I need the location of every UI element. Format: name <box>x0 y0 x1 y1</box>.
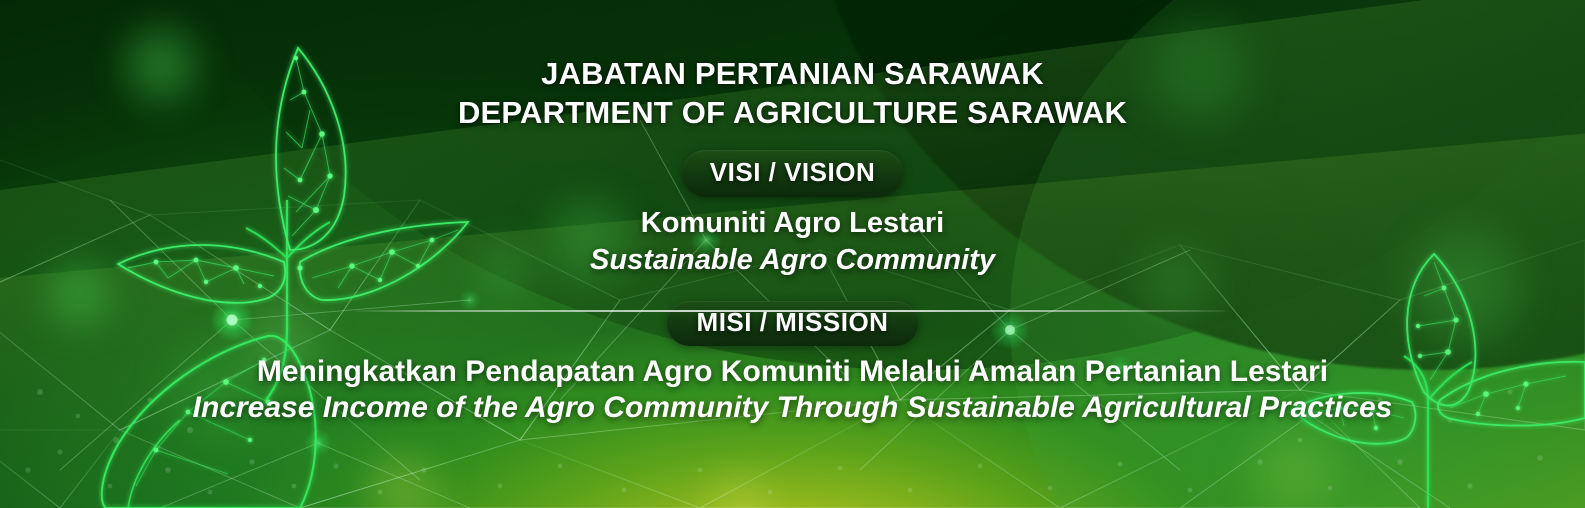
banner-title: JABATAN PERTANIAN SARAWAK DEPARTMENT OF … <box>458 54 1127 132</box>
mission-text-malay: Meningkatkan Pendapatan Agro Komuniti Me… <box>193 355 1393 389</box>
vision-mission-banner: JABATAN PERTANIAN SARAWAK DEPARTMENT OF … <box>0 0 1585 508</box>
vision-section: VISI / VISION Komuniti Agro Lestari Sust… <box>590 150 995 277</box>
vision-text-malay: Komuniti Agro Lestari <box>590 207 995 240</box>
mission-badge: MISI / MISSION <box>667 301 919 346</box>
mission-section: MISI / MISSION Meningkatkan Pendapatan A… <box>193 301 1393 425</box>
vision-text-english: Sustainable Agro Community <box>590 244 995 277</box>
title-line-english: DEPARTMENT OF AGRICULTURE SARAWAK <box>458 93 1127 132</box>
title-line-malay: JABATAN PERTANIAN SARAWAK <box>458 54 1127 93</box>
mission-text-english: Increase Income of the Agro Community Th… <box>193 391 1393 425</box>
banner-content: JABATAN PERTANIAN SARAWAK DEPARTMENT OF … <box>0 0 1585 508</box>
section-divider <box>355 310 1225 312</box>
vision-badge: VISI / VISION <box>682 150 903 197</box>
